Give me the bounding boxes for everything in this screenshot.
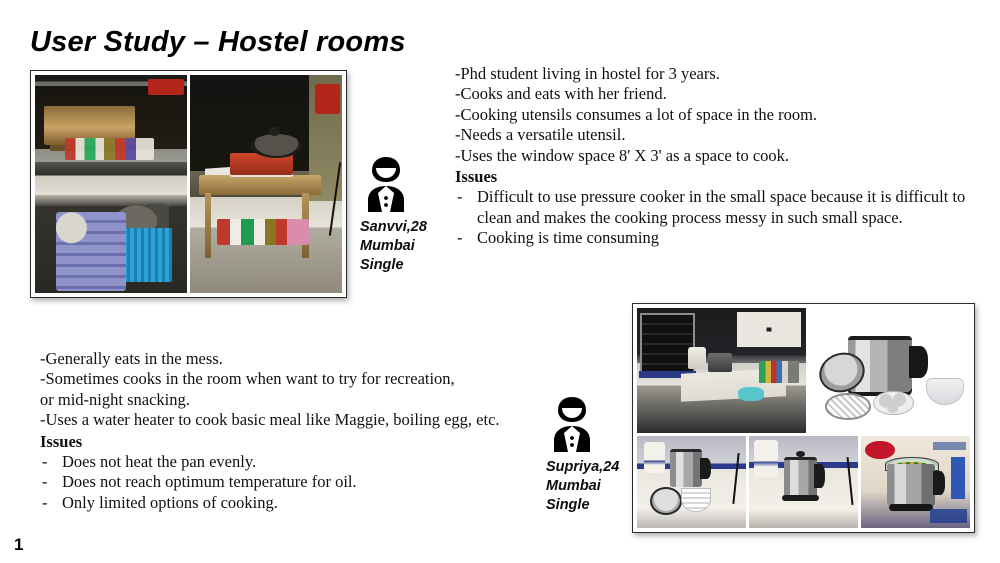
issues-list-supriya: - Does not heat the pan evenly. - Does n… — [40, 452, 560, 513]
photo-detail-kettle — [754, 440, 778, 477]
issue-text: Does not reach optimum temperature for o… — [62, 472, 357, 491]
slide-canvas: User Study – Hostel rooms — [0, 0, 1000, 563]
note-line: -Generally eats in the mess. — [40, 349, 560, 369]
bullet-dash: - — [457, 187, 463, 207]
photo-detail-brand-text — [933, 442, 966, 450]
photo-detail-blue-basket — [123, 228, 172, 283]
persona-city: Mumbai — [360, 237, 427, 256]
photo-detail-feature-badges — [951, 457, 964, 499]
photo-detail-heating-base — [889, 504, 933, 511]
photo-detail-steel-pot — [708, 353, 732, 372]
persona-name-age: Sanvvi,28 — [360, 218, 427, 237]
photo-detail-pot-handle — [814, 464, 825, 488]
persona-sanvvi: Sanvvi,28 Mumbai Single — [360, 156, 427, 275]
photo-detail-frying-pan — [251, 134, 303, 158]
photo-detail-pot — [784, 457, 817, 500]
photo-detail-red-wall-box — [315, 84, 341, 115]
photo-multicooker-product — [809, 308, 970, 433]
photo-detail-pot-handle — [700, 458, 711, 478]
photo-detail-spice-jars-row — [217, 219, 308, 245]
notes-supriya: -Generally eats in the mess. -Sometimes … — [40, 349, 560, 513]
photo-detail-kettle — [644, 442, 666, 473]
photo-detail-egg-tray — [873, 391, 914, 416]
photo-collage-supriya — [632, 303, 975, 533]
photo-induction-cooktop — [190, 75, 342, 293]
issue-text: Cooking is time consuming — [477, 228, 659, 247]
photo-collage-sanvvi — [30, 70, 347, 298]
person-avatar-icon — [550, 396, 594, 454]
photo-detail-pot-handle — [933, 471, 945, 495]
photo-detail-window — [640, 313, 695, 377]
person-avatar-icon — [364, 156, 408, 214]
photo-detail-desk-clutter — [759, 361, 800, 384]
photo-detail-pot-body — [887, 464, 935, 506]
issue-item: - Does not heat the pan evenly. — [40, 452, 560, 472]
issues-heading: Issues — [455, 167, 975, 187]
persona-name-age: Supriya,24 — [546, 458, 619, 477]
photo-kettle-and-pot — [749, 436, 858, 528]
bullet-dash: - — [42, 493, 48, 513]
persona-sanvvi-details: Sanvvi,28 Mumbai Single — [360, 218, 427, 275]
note-line: -Phd student living in hostel for 3 year… — [455, 64, 975, 84]
photo-window-sill-storage — [35, 75, 187, 293]
bullet-dash: - — [457, 228, 463, 248]
photo-detail-table-leg-left — [205, 193, 211, 258]
issue-item: - Difficult to use pressure cooker in th… — [455, 187, 975, 228]
issue-text: Difficult to use pressure cooker in the … — [477, 187, 965, 226]
photo-detail-electric-kettle — [688, 347, 707, 370]
note-line: -Needs a versatile utensil. — [455, 125, 975, 145]
photo-detail-brand-logo — [865, 441, 894, 459]
note-line: -Uses a water heater to cook basic meal … — [40, 410, 560, 430]
issue-item: - Does not reach optimum temperature for… — [40, 472, 560, 492]
persona-city: Mumbai — [546, 477, 619, 496]
issue-item: - Only limited options of cooking. — [40, 493, 560, 513]
issue-item: - Cooking is time consuming — [455, 228, 975, 248]
photo-detail-power-cord — [733, 453, 740, 504]
photo-detail-teal-container — [738, 387, 763, 401]
note-line: -Sometimes cooks in the room when want t… — [40, 369, 560, 389]
photo-detail-power-cord — [847, 457, 854, 505]
photo-detail-pan-knob — [269, 127, 280, 136]
persona-status: Single — [360, 256, 427, 275]
issue-text: Only limited options of cooking. — [62, 493, 278, 512]
photo-detail-plastic-bowl — [926, 378, 963, 405]
photo-detail-steel-pot-body — [670, 449, 703, 487]
persona-supriya-details: Supriya,24 Mumbai Single — [546, 458, 619, 515]
photo-detail-packaging-footer — [930, 509, 967, 524]
page-title: User Study – Hostel rooms — [30, 26, 406, 59]
photo-detail-wire-trivet — [825, 393, 871, 420]
page-number: 1 — [14, 535, 23, 555]
note-line: -Cooking utensils consumes a lot of spac… — [455, 105, 975, 125]
bullet-dash: - — [42, 472, 48, 492]
issues-list-sanvvi: - Difficult to use pressure cooker in th… — [455, 187, 975, 248]
photo-detail-cooker-handle — [909, 346, 928, 379]
persona-status: Single — [546, 496, 619, 515]
photo-boxed-packaging — [861, 436, 970, 528]
bullet-dash: - — [42, 452, 48, 472]
issues-heading: Issues — [40, 432, 560, 452]
photo-pot-with-lid-strainer — [637, 436, 746, 528]
notes-sanvvi: -Phd student living in hostel for 3 year… — [455, 64, 975, 248]
issue-text: Does not heat the pan evenly. — [62, 452, 256, 471]
persona-supriya: Supriya,24 Mumbai Single — [546, 396, 619, 515]
photo-desk-with-kettle — [637, 308, 806, 433]
photo-detail-spice-jars — [65, 138, 153, 160]
photo-detail-glass-lid — [650, 487, 682, 515]
photo-detail-wall-notes — [737, 312, 801, 347]
note-line: -Uses the window space 8' X 3' as a spac… — [455, 146, 975, 166]
note-line: -Cooks and eats with her friend. — [455, 84, 975, 104]
photo-detail-strainer — [681, 488, 711, 512]
note-line: or mid-night snacking. — [40, 390, 560, 410]
photo-detail-heating-base — [782, 495, 819, 501]
photo-detail-red-box — [148, 79, 184, 94]
